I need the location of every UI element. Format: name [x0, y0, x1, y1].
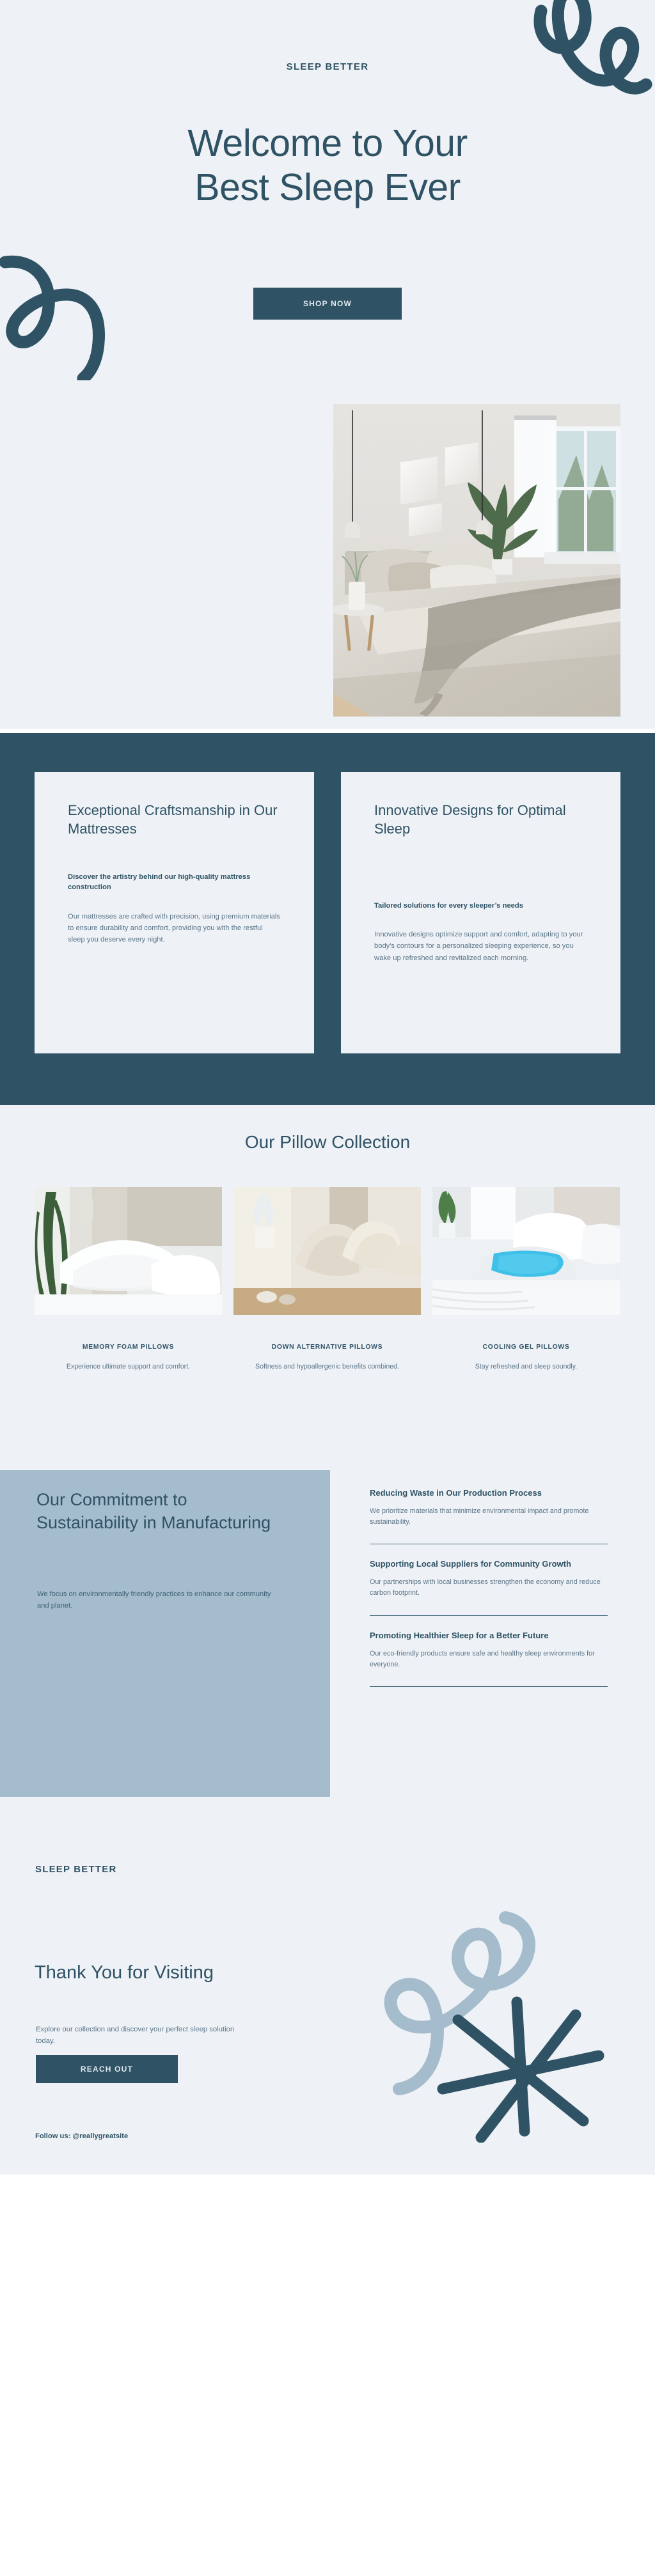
sustainability-item-body: We prioritize materials that minimize en… [370, 1506, 608, 1528]
memory-foam-pillow-image [35, 1187, 222, 1315]
sustainability-list: Reducing Waste in Our Production Process… [370, 1487, 608, 1701]
pillow-card[interactable]: DOWN ALTERNATIVE PILLOWS Softness and hy… [233, 1187, 421, 1372]
sustainability-item: Supporting Local Suppliers for Community… [370, 1558, 608, 1615]
feature-card-innovative-designs: Innovative Designs for Optimal Sleep Tai… [341, 772, 620, 1053]
pillow-name: MEMORY FOAM PILLOWS [35, 1342, 222, 1353]
squiggle-decoration-left [0, 235, 134, 380]
sustainability-item-body: Our eco-friendly products ensure safe an… [370, 1649, 608, 1671]
reach-out-button[interactable]: REACH OUT [36, 2055, 178, 2083]
sustainability-item: Reducing Waste in Our Production Process… [370, 1487, 608, 1544]
pillow-description: Stay refreshed and sleep soundly. [432, 1362, 620, 1372]
down-alternative-pillow-image [233, 1187, 421, 1315]
divider [370, 1544, 608, 1544]
bedroom-image [333, 404, 620, 717]
footer-subtitle: Explore our collection and discover your… [36, 2024, 247, 2047]
hero-title-line-2: Best Sleep Ever [194, 166, 461, 208]
landing-page: SLEEP BETTER Welcome to Your Best Sleep … [0, 0, 655, 2576]
pillow-description: Softness and hypoallergenic benefits com… [233, 1362, 421, 1372]
pillow-collection-section: Our Pillow Collection [0, 1105, 655, 1452]
pillow-name: COOLING GEL PILLOWS [432, 1342, 620, 1353]
sustainability-subtitle: We focus on environmentally friendly pra… [37, 1589, 277, 1612]
sustainability-item-title: Supporting Local Suppliers for Community… [370, 1558, 608, 1571]
sustainability-title: Our Commitment to Sustainability in Manu… [36, 1489, 292, 1535]
sustainability-section: Our Commitment to Sustainability in Manu… [0, 1452, 655, 1836]
footer-section: SLEEP BETTER Thank You for Visiting Expl… [0, 1836, 655, 2175]
page-bottom-whitespace [0, 2175, 655, 2576]
feature-card-title: Exceptional Craftsmanship in Our Mattres… [68, 801, 281, 839]
divider [370, 1686, 608, 1687]
feature-card-title: Innovative Designs for Optimal Sleep [374, 801, 587, 839]
footer-brand: SLEEP BETTER [35, 1864, 116, 1875]
sustainability-item-body: Our partnerships with local businesses s… [370, 1577, 608, 1599]
pillow-grid: MEMORY FOAM PILLOWS Experience ultimate … [35, 1187, 620, 1372]
sustainability-item: Promoting Healthier Sleep for a Better F… [370, 1630, 608, 1686]
pillow-collection-heading: Our Pillow Collection [0, 1132, 655, 1152]
feature-card-craftsmanship: Exceptional Craftsmanship in Our Mattres… [35, 772, 314, 1053]
feature-card-body: Innovative designs optimize support and … [374, 929, 587, 963]
hero-title-line-1: Welcome to Your [187, 122, 467, 164]
feature-card-subtitle: Discover the artistry behind our high-qu… [68, 872, 281, 894]
squiggle-and-starburst-decoration [333, 1900, 620, 2143]
divider [370, 1615, 608, 1616]
pillow-description: Experience ultimate support and comfort. [35, 1362, 222, 1372]
pillow-card[interactable]: MEMORY FOAM PILLOWS Experience ultimate … [35, 1187, 222, 1372]
brand-eyebrow: SLEEP BETTER [0, 61, 655, 72]
feature-card-body: Our mattresses are crafted with precisio… [68, 911, 281, 945]
sustainability-item-title: Promoting Healthier Sleep for a Better F… [370, 1630, 608, 1642]
cooling-gel-pillow-image [432, 1187, 620, 1315]
pillow-name: DOWN ALTERNATIVE PILLOWS [233, 1342, 421, 1353]
pillow-card[interactable]: COOLING GEL PILLOWS Stay refreshed and s… [432, 1187, 620, 1372]
hero-title: Welcome to Your Best Sleep Ever [0, 121, 655, 210]
footer-follow-handle: Follow us: @reallygreatsite [35, 2132, 128, 2140]
feature-card-subtitle: Tailored solutions for every sleeper’s n… [374, 901, 587, 912]
hero-section: SLEEP BETTER Welcome to Your Best Sleep … [0, 0, 655, 380]
footer-title: Thank You for Visiting [35, 1962, 246, 1985]
sustainability-item-title: Reducing Waste in Our Production Process [370, 1487, 608, 1500]
shop-now-button[interactable]: SHOP NOW [253, 288, 402, 320]
